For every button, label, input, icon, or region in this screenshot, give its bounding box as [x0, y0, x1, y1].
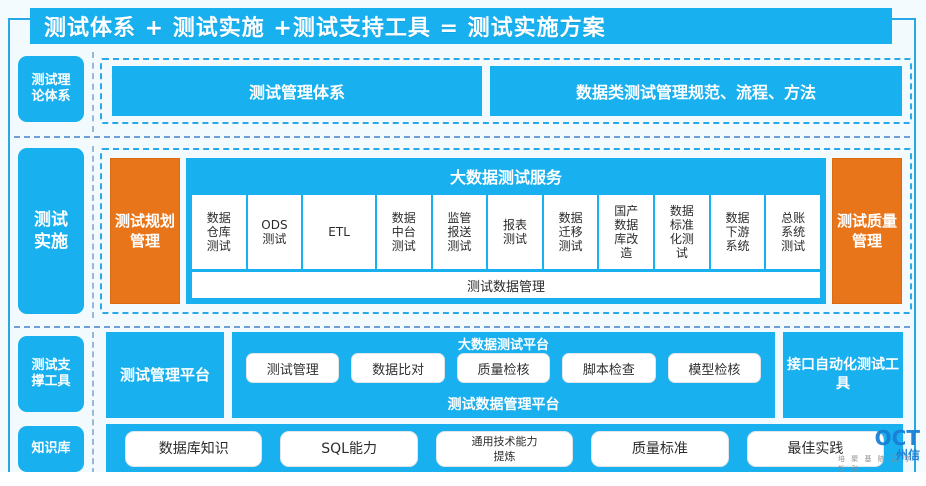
platform-chip[interactable]: 脚本检查	[562, 353, 655, 383]
service-cell[interactable]: 总账 系统 测试	[766, 195, 820, 269]
platform-chip[interactable]: 数据比对	[351, 353, 444, 383]
big-data-test-service-panel: 大数据测试服务 数据 仓库 测试ODS 测试ETL数据 中台 测试监管 报送 测…	[186, 158, 826, 304]
service-cell[interactable]: 报表 测试	[488, 195, 542, 269]
knowledge-base-band: 数据库知识SQL能力通用技术能力 提炼质量标准最佳实践	[106, 424, 903, 474]
sidebar-label-knowledge-base[interactable]: 知识库	[18, 426, 84, 472]
service-cell[interactable]: ETL	[303, 195, 375, 269]
divider-implementation-support	[14, 326, 910, 328]
theory-box-data-spec[interactable]: 数据类测试管理规范、流程、方法	[490, 66, 902, 116]
service-cell[interactable]: 监管 报送 测试	[433, 195, 487, 269]
sidebar-label-implementation[interactable]: 测试实施	[18, 148, 84, 314]
box-api-automation-tool-label: 接口自动化测试工具	[783, 356, 903, 394]
test-data-management-bar[interactable]: 测试数据管理	[192, 272, 820, 298]
knowledge-chip[interactable]: 数据库知识	[125, 431, 262, 467]
page-title: 测试体系 + 测试实施 +测试支持工具 = 测试实施方案	[44, 10, 606, 42]
vdivider-implementation	[92, 146, 94, 318]
test-data-management-platform-label: 测试数据管理平台	[232, 394, 775, 414]
bottom-shade	[0, 472, 926, 486]
sidebar-label-knowledge-base-text: 知识库	[31, 441, 70, 457]
diagram-root: 测试体系 + 测试实施 +测试支持工具 = 测试实施方案 测试理论体系 测试管理…	[0, 0, 926, 486]
platform-chip[interactable]: 测试管理	[246, 353, 339, 383]
box-test-quality-management-label: 测试质量管理	[833, 211, 901, 251]
platform-chip-list: 测试管理数据比对质量检核脚本检查模型检核	[240, 352, 767, 384]
sidebar-label-support-tools[interactable]: 测试支撑工具	[18, 336, 84, 412]
knowledge-chip[interactable]: 最佳实践	[747, 431, 884, 467]
sidebar-label-theory[interactable]: 测试理论体系	[18, 56, 84, 122]
service-cell[interactable]: 数据 标准 化测 试	[655, 195, 709, 269]
theory-box-management-system[interactable]: 测试管理体系	[112, 66, 482, 116]
sidebar-label-implementation-text: 测试实施	[34, 209, 68, 253]
big-data-test-service-title: 大数据测试服务	[187, 159, 825, 193]
big-data-test-platform-panel: 大数据测试平台 测试管理数据比对质量检核脚本检查模型检核 测试数据管理平台	[232, 332, 775, 418]
service-cell[interactable]: 数据 中台 测试	[377, 195, 431, 269]
service-cell[interactable]: 数据 下游 系统	[711, 195, 765, 269]
knowledge-chip-list: 数据库知识SQL能力通用技术能力 提炼质量标准最佳实践	[106, 424, 903, 474]
service-cell[interactable]: ODS 测试	[248, 195, 302, 269]
service-cell-list: 数据 仓库 测试ODS 测试ETL数据 中台 测试监管 报送 测试报表 测试数据…	[192, 195, 820, 269]
big-data-test-platform-title: 大数据测试平台	[232, 334, 775, 353]
title-banner: 测试体系 + 测试实施 +测试支持工具 = 测试实施方案	[30, 8, 892, 44]
theory-box-management-system-label: 测试管理体系	[249, 79, 345, 103]
knowledge-chip[interactable]: 通用技术能力 提炼	[436, 431, 573, 467]
service-cell[interactable]: 数据 迁移 测试	[544, 195, 598, 269]
sidebar-label-support-tools-text: 测试支撑工具	[31, 358, 70, 390]
platform-chip[interactable]: 质量检核	[457, 353, 550, 383]
box-test-planning-management-label: 测试规划管理	[111, 211, 179, 251]
box-test-management-platform-label: 测试管理平台	[120, 365, 210, 385]
sidebar-label-theory-text: 测试理论体系	[31, 73, 70, 105]
divider-theory-implementation	[14, 136, 910, 138]
box-test-planning-management[interactable]: 测试规划管理	[110, 158, 180, 304]
knowledge-chip[interactable]: 质量标准	[591, 431, 728, 467]
service-cell[interactable]: 国产 数据 库改 造	[599, 195, 653, 269]
service-cell[interactable]: 数据 仓库 测试	[192, 195, 246, 269]
vdivider-theory	[92, 52, 94, 132]
platform-chip[interactable]: 模型检核	[668, 353, 761, 383]
theory-box-data-spec-label: 数据类测试管理规范、流程、方法	[576, 79, 816, 103]
knowledge-chip[interactable]: SQL能力	[280, 431, 417, 467]
box-api-automation-tool[interactable]: 接口自动化测试工具	[783, 332, 903, 418]
box-test-quality-management[interactable]: 测试质量管理	[832, 158, 902, 304]
vdivider-support	[92, 332, 94, 474]
box-test-management-platform[interactable]: 测试管理平台	[106, 332, 224, 418]
